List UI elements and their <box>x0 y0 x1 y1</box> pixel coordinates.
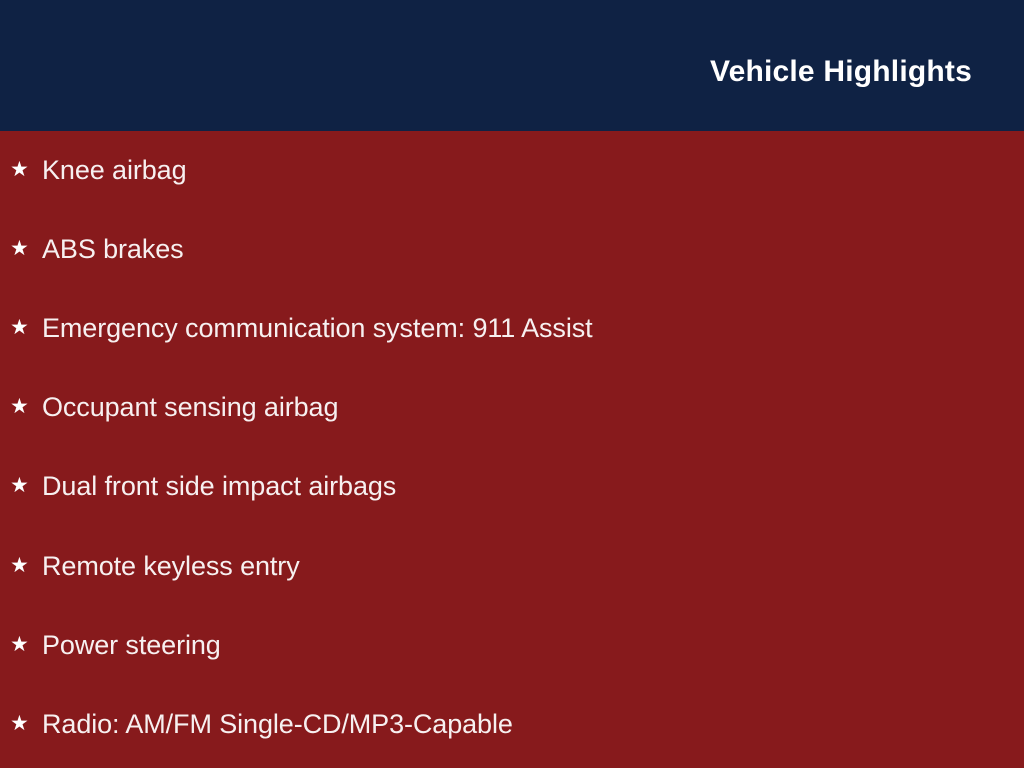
list-item-label: Knee airbag <box>42 157 187 184</box>
star-bullet-icon: ★ <box>10 475 42 496</box>
star-bullet-icon: ★ <box>10 634 42 655</box>
list-item-label: Power steering <box>42 632 221 659</box>
list-item: ★Remote keyless entry <box>10 546 300 586</box>
slide-header-bar: Vehicle Highlights <box>0 0 1024 131</box>
list-item-label: Dual front side impact airbags <box>42 473 396 500</box>
star-bullet-icon: ★ <box>10 317 42 338</box>
list-item: ★Power steering <box>10 625 221 665</box>
list-item: ★Radio: AM/FM Single-CD/MP3-Capable <box>10 704 513 744</box>
vehicle-highlights-list: ★Knee airbag★ABS brakes★Emergency commun… <box>0 131 1024 768</box>
list-item-label: Remote keyless entry <box>42 553 300 580</box>
list-item-label: Occupant sensing airbag <box>42 394 338 421</box>
list-item: ★Dual front side impact airbags <box>10 467 396 507</box>
list-item: ★Emergency communication system: 911 Ass… <box>10 308 593 348</box>
star-bullet-icon: ★ <box>10 555 42 576</box>
list-item: ★ABS brakes <box>10 229 184 269</box>
star-bullet-icon: ★ <box>10 238 42 259</box>
slide-canvas: Vehicle Highlights ★Knee airbag★ABS brak… <box>0 0 1024 768</box>
star-bullet-icon: ★ <box>10 396 42 417</box>
list-item-label: ABS brakes <box>42 236 184 263</box>
list-item-label: Emergency communication system: 911 Assi… <box>42 315 593 342</box>
list-item-label: Radio: AM/FM Single-CD/MP3-Capable <box>42 711 513 738</box>
list-item: ★Occupant sensing airbag <box>10 388 338 428</box>
page-title: Vehicle Highlights <box>710 57 972 87</box>
star-bullet-icon: ★ <box>10 713 42 734</box>
star-bullet-icon: ★ <box>10 159 42 180</box>
list-item: ★Knee airbag <box>10 150 187 190</box>
